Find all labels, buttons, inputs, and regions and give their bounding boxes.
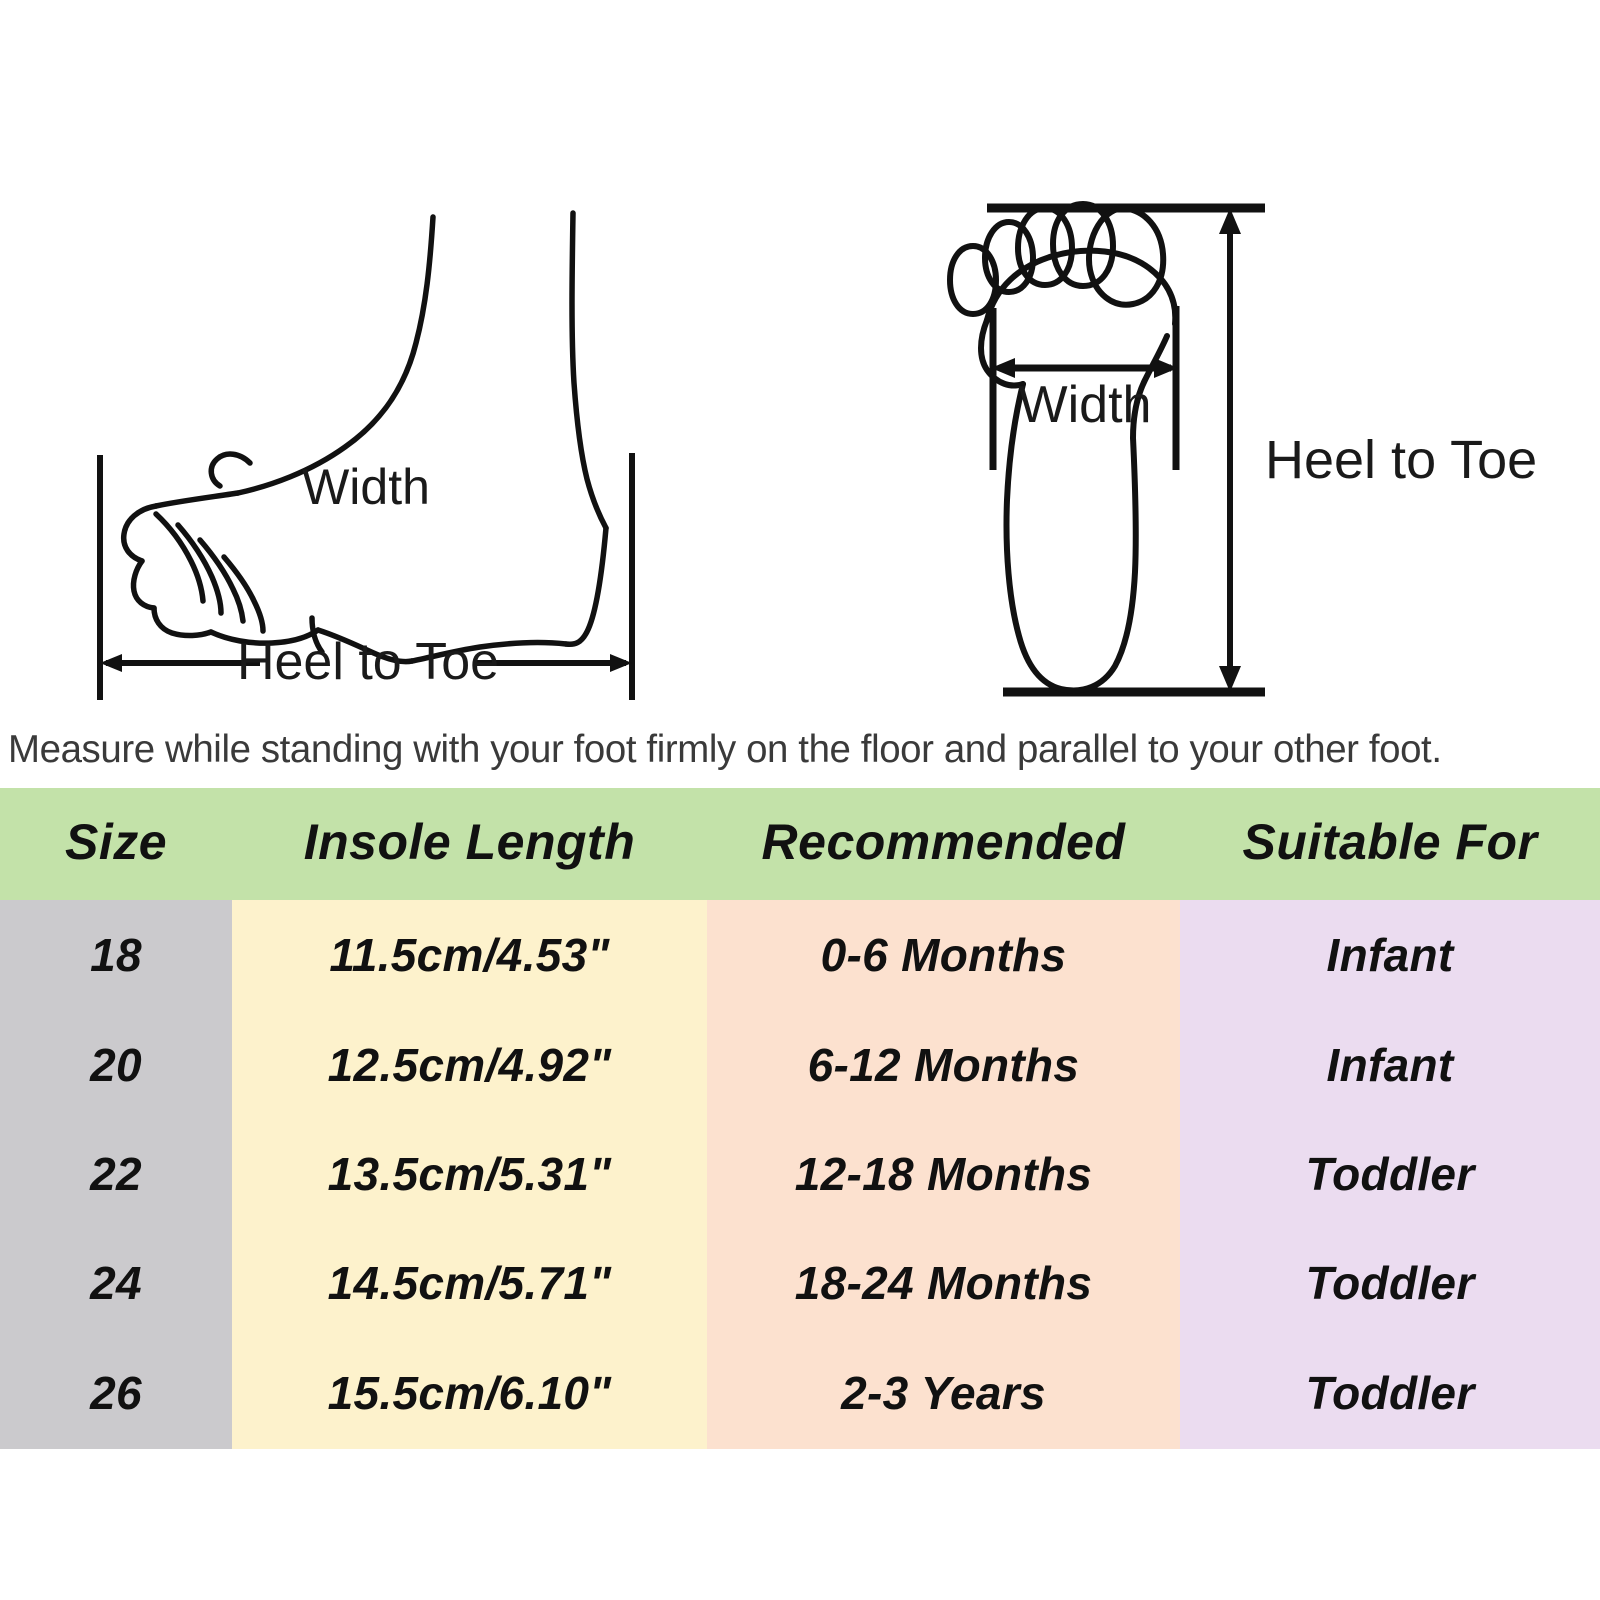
- cell-size: 26: [0, 1337, 232, 1449]
- foot-side-view-diagram: Width Heel to Toe: [60, 195, 680, 705]
- cell-insole-length: 14.5cm/5.71": [232, 1228, 707, 1337]
- table-header-row: Size Insole Length Recommended Suitable …: [0, 788, 1600, 900]
- sole-heel-to-toe-label: Heel to Toe: [1265, 430, 1537, 490]
- table-row: 26 15.5cm/6.10" 2-3 Years Toddler: [0, 1337, 1600, 1449]
- table-row: 22 13.5cm/5.31" 12-18 Months Toddler: [0, 1119, 1600, 1228]
- cell-insole-length: 13.5cm/5.31": [232, 1119, 707, 1228]
- column-header-size: Size: [0, 788, 232, 900]
- table-header: Size Insole Length Recommended Suitable …: [0, 788, 1600, 900]
- cell-insole-length: 12.5cm/4.92": [232, 1010, 707, 1119]
- cell-recommended: 18-24 Months: [707, 1228, 1180, 1337]
- table-row: 20 12.5cm/4.92" 6-12 Months Infant: [0, 1010, 1600, 1119]
- side-heel-to-toe-label: Heel to Toe: [237, 633, 499, 691]
- cell-suitable-for: Infant: [1180, 1010, 1600, 1119]
- column-header-suitable-for: Suitable For: [1180, 788, 1600, 900]
- cell-suitable-for: Toddler: [1180, 1228, 1600, 1337]
- cell-suitable-for: Toddler: [1180, 1119, 1600, 1228]
- table-row: 24 14.5cm/5.71" 18-24 Months Toddler: [0, 1228, 1600, 1337]
- cell-size: 24: [0, 1228, 232, 1337]
- cell-insole-length: 11.5cm/4.53": [232, 900, 707, 1010]
- foot-side-outline-icon: [124, 213, 606, 662]
- column-header-recommended: Recommended: [707, 788, 1180, 900]
- size-chart-page: Width Heel to Toe: [0, 0, 1600, 1600]
- measure-instruction-text: Measure while standing with your foot fi…: [8, 728, 1570, 772]
- cell-recommended: 2-3 Years: [707, 1337, 1180, 1449]
- cell-size: 18: [0, 900, 232, 1010]
- side-width-label: Width: [302, 459, 430, 515]
- sole-heel-to-toe-dimension-arrow: [1219, 208, 1241, 692]
- cell-insole-length: 15.5cm/6.10": [232, 1337, 707, 1449]
- cell-recommended: 12-18 Months: [707, 1119, 1180, 1228]
- measurement-diagrams: Width Heel to Toe: [0, 0, 1600, 788]
- cell-recommended: 0-6 Months: [707, 900, 1180, 1010]
- column-header-insole-length: Insole Length: [232, 788, 707, 900]
- table-row: 18 11.5cm/4.53" 0-6 Months Infant: [0, 900, 1600, 1010]
- cell-recommended: 6-12 Months: [707, 1010, 1180, 1119]
- size-chart-table: Size Insole Length Recommended Suitable …: [0, 788, 1600, 1449]
- sole-width-label: Width: [1019, 376, 1152, 434]
- cell-suitable-for: Toddler: [1180, 1337, 1600, 1449]
- table-body: 18 11.5cm/4.53" 0-6 Months Infant 20 12.…: [0, 900, 1600, 1449]
- foot-sole-view-diagram: Width Heel to Toe: [935, 180, 1555, 720]
- cell-size: 22: [0, 1119, 232, 1228]
- cell-size: 20: [0, 1010, 232, 1119]
- foot-sole-outline-icon: [950, 204, 1175, 690]
- cell-suitable-for: Infant: [1180, 900, 1600, 1010]
